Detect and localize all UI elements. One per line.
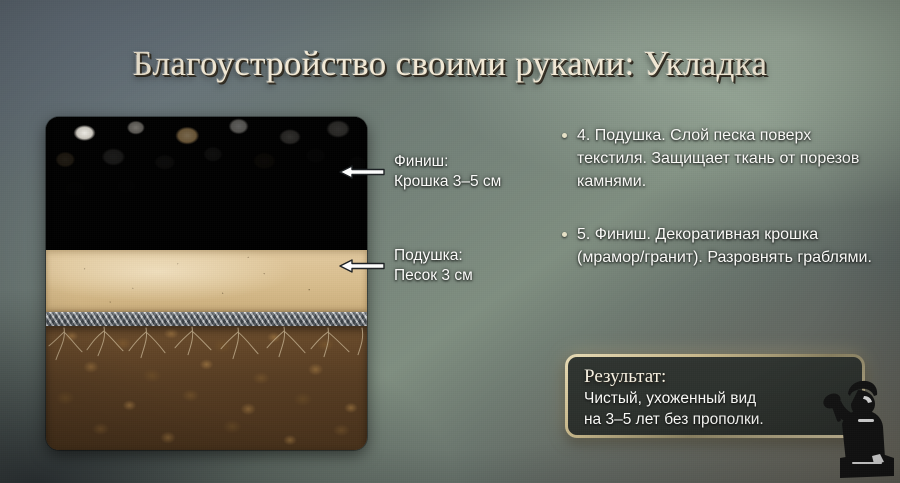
callout-finish: Финиш: Крошка 3–5 см xyxy=(338,152,501,192)
sand-layer xyxy=(46,250,367,312)
callout-finish-line1: Финиш: xyxy=(394,152,501,172)
list-item: 4. Подушка. Слой песка поверх текстиля. … xyxy=(562,124,880,193)
callout-cushion-line1: Подушка: xyxy=(394,246,473,266)
arrow-left-icon xyxy=(338,164,386,180)
callout-cushion-text: Подушка: Песок 3 см xyxy=(394,246,473,286)
arrow-left-icon xyxy=(338,258,386,274)
list-item: 5. Финиш. Декоративная крошка (мрамор/гр… xyxy=(562,223,880,269)
callout-cushion: Подушка: Песок 3 см xyxy=(338,246,473,286)
stonemason-worker-icon xyxy=(818,372,898,483)
callout-finish-line2: Крошка 3–5 см xyxy=(394,172,501,192)
bullet-list: 4. Подушка. Слой песка поверх текстиля. … xyxy=(562,124,880,299)
result-title: Результат: xyxy=(584,366,846,388)
bullet-text: 5. Финиш. Декоративная крошка (мрамор/гр… xyxy=(577,223,880,269)
roots-overlay xyxy=(46,326,367,399)
bullet-dot-icon xyxy=(562,232,567,237)
slide: Благоустройство своими руками: Укладка xyxy=(0,0,900,483)
callout-cushion-line2: Песок 3 см xyxy=(394,266,473,286)
gravel-layer xyxy=(46,117,367,250)
bullet-dot-icon xyxy=(562,133,567,138)
geotextile-layer xyxy=(46,312,367,326)
bullet-text: 4. Подушка. Слой песка поверх текстиля. … xyxy=(577,124,880,193)
callout-finish-text: Финиш: Крошка 3–5 см xyxy=(394,152,501,192)
result-line1: Чистый, ухоженный вид xyxy=(584,389,846,409)
soil-cross-section-image xyxy=(46,117,367,450)
result-line2: на 3–5 лет без прополки. xyxy=(584,410,846,430)
page-title: Благоустройство своими руками: Укладка xyxy=(0,44,900,84)
